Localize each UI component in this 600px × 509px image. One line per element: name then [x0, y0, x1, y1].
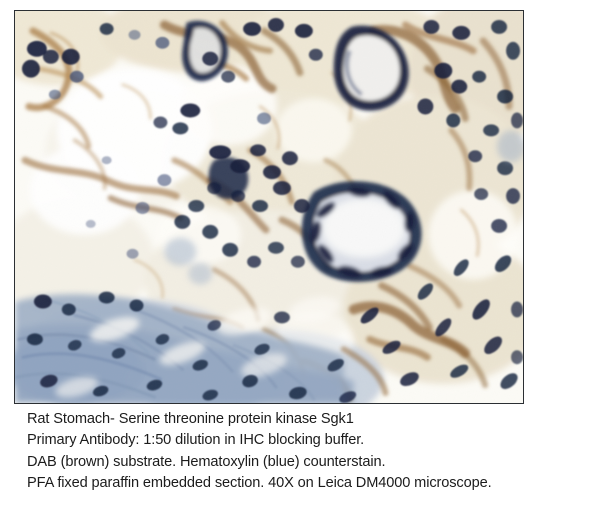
micrograph-frame	[14, 10, 524, 404]
caption-line-2: Primary Antibody: 1:50 dilution in IHC b…	[27, 430, 593, 451]
figure-caption: Rat Stomach- Serine threonine protein ki…	[27, 409, 593, 495]
micrograph-image	[15, 11, 523, 403]
caption-line-3: DAB (brown) substrate. Hematoxylin (blue…	[27, 452, 593, 473]
caption-line-4: PFA fixed paraffin embedded section. 40X…	[27, 473, 593, 494]
figure-page: Rat Stomach- Serine threonine protein ki…	[0, 0, 600, 509]
caption-line-1: Rat Stomach- Serine threonine protein ki…	[27, 409, 593, 430]
